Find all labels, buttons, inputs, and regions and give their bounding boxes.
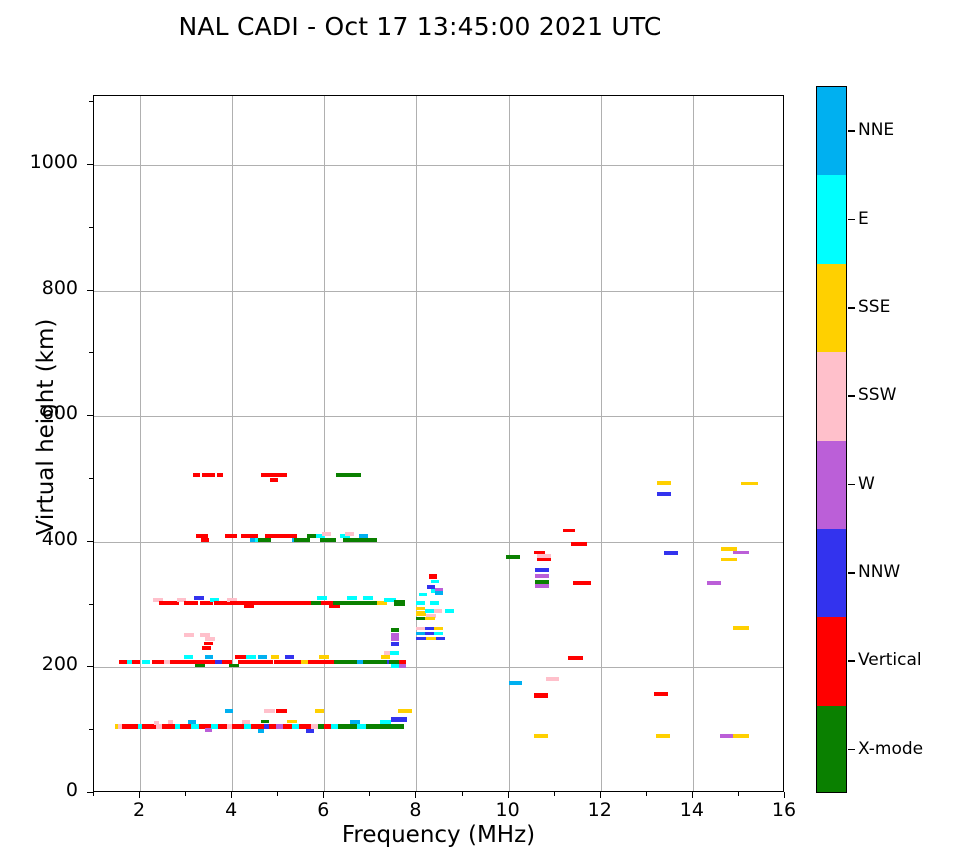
y-tick-label: 0 xyxy=(0,779,78,801)
echo-mark xyxy=(391,642,399,646)
echo-mark xyxy=(274,660,288,664)
echo-mark xyxy=(308,660,322,664)
x-tick xyxy=(554,792,555,796)
colorbar-tick xyxy=(848,749,855,751)
echo-mark xyxy=(445,609,454,613)
gridline-vertical xyxy=(509,96,510,791)
echo-mark xyxy=(264,709,274,713)
echo-mark xyxy=(329,605,341,609)
echo-mark xyxy=(287,660,302,664)
echo-mark xyxy=(534,693,548,698)
echo-mark xyxy=(391,633,399,637)
echo-mark xyxy=(416,627,424,631)
x-tick xyxy=(415,792,416,798)
echo-mark xyxy=(258,538,272,542)
echo-mark xyxy=(434,632,443,636)
x-tick xyxy=(323,792,324,798)
echo-mark xyxy=(333,601,352,605)
colorbar-tick xyxy=(848,572,855,574)
echo-mark xyxy=(509,681,523,685)
echo-mark xyxy=(193,473,200,477)
gridline-vertical xyxy=(601,96,602,791)
echo-mark xyxy=(434,609,442,613)
echo-mark xyxy=(132,660,140,664)
colorbar-tick xyxy=(848,484,855,486)
echo-mark xyxy=(435,591,443,595)
echo-mark xyxy=(229,664,239,668)
echo-mark xyxy=(419,593,427,597)
echo-mark xyxy=(425,609,434,613)
echo-mark xyxy=(347,596,356,600)
x-tick xyxy=(185,792,186,796)
gridline-horizontal xyxy=(94,291,783,292)
echo-mark xyxy=(244,605,255,609)
echo-mark xyxy=(573,581,591,585)
echo-mark xyxy=(535,568,549,572)
y-tick-label: 1000 xyxy=(0,151,78,173)
echo-mark xyxy=(205,637,214,641)
echo-mark xyxy=(721,558,736,562)
echo-mark xyxy=(119,660,127,664)
echo-mark xyxy=(426,637,436,641)
echo-mark xyxy=(205,728,211,732)
y-tick xyxy=(87,290,93,291)
colorbar-tick xyxy=(848,307,855,309)
colorbar-label-w: W xyxy=(858,474,875,494)
echo-mark xyxy=(225,534,237,538)
echo-mark xyxy=(733,551,749,555)
echo-mark xyxy=(361,538,377,542)
echo-mark xyxy=(535,584,549,588)
y-tick xyxy=(89,227,93,228)
x-tick-label: 16 xyxy=(754,799,814,821)
echo-mark xyxy=(733,734,749,738)
y-tick xyxy=(89,352,93,353)
echo-mark xyxy=(366,724,389,728)
plot-area xyxy=(93,95,784,792)
colorbar-label-ssw: SSW xyxy=(858,385,896,405)
y-tick xyxy=(89,101,93,102)
echo-mark xyxy=(258,729,265,733)
echo-mark xyxy=(248,660,260,664)
echo-mark xyxy=(204,642,213,646)
y-tick-label: 200 xyxy=(0,653,78,675)
echo-mark xyxy=(352,601,368,605)
x-tick xyxy=(231,792,232,798)
gridline-horizontal xyxy=(94,165,783,166)
echo-mark xyxy=(311,601,321,605)
gridline-vertical xyxy=(140,96,141,791)
echo-mark xyxy=(170,660,187,664)
echo-mark xyxy=(654,692,668,696)
echo-mark xyxy=(394,600,405,606)
echo-mark xyxy=(261,720,269,724)
x-tick xyxy=(646,792,647,796)
echo-mark xyxy=(664,551,678,555)
echo-mark xyxy=(168,720,174,724)
echo-mark xyxy=(184,601,198,605)
x-tick-label: 4 xyxy=(201,799,261,821)
echo-mark xyxy=(200,633,210,637)
echo-mark xyxy=(741,482,758,486)
colorbar-tick xyxy=(848,130,855,132)
echo-mark xyxy=(315,709,324,713)
echo-mark xyxy=(336,473,361,477)
echo-mark xyxy=(416,607,424,611)
colorbar-segment-sse[interactable] xyxy=(817,264,846,352)
y-tick xyxy=(87,541,93,542)
echo-mark xyxy=(363,596,372,600)
x-tick xyxy=(784,792,785,798)
x-tick-label: 2 xyxy=(109,799,169,821)
y-tick xyxy=(89,604,93,605)
colorbar-tick xyxy=(848,395,855,397)
colorbar-segment-x-mode[interactable] xyxy=(817,706,846,793)
echo-mark xyxy=(191,724,199,728)
echo-mark xyxy=(568,656,583,660)
colorbar-tick xyxy=(848,660,855,662)
colorbar[interactable] xyxy=(816,86,847,793)
echo-mark xyxy=(436,637,445,641)
echo-mark xyxy=(571,542,587,546)
gridline-horizontal xyxy=(94,667,783,668)
echo-mark xyxy=(261,660,273,664)
echo-mark xyxy=(338,724,356,728)
gridline-horizontal xyxy=(94,542,783,543)
colorbar-segment-vertical[interactable] xyxy=(817,617,846,705)
echo-mark xyxy=(398,709,412,713)
y-tick xyxy=(87,666,93,667)
y-tick xyxy=(89,729,93,730)
echo-mark xyxy=(201,538,209,542)
colorbar-label-sse: SSE xyxy=(858,297,890,317)
echo-mark xyxy=(656,734,670,738)
page-title: NAL CADI - Oct 17 13:45:00 2021 UTC xyxy=(0,12,840,41)
x-tick xyxy=(692,792,693,798)
echo-mark xyxy=(720,734,735,738)
echo-mark xyxy=(217,473,223,477)
x-tick-label: 10 xyxy=(478,799,538,821)
echo-mark xyxy=(345,532,354,536)
echo-mark xyxy=(306,729,314,733)
echo-mark xyxy=(294,538,310,542)
echo-mark xyxy=(363,660,386,664)
gridline-vertical xyxy=(324,96,325,791)
y-tick xyxy=(87,415,93,416)
y-axis-label: Virtual height (km) xyxy=(33,227,59,627)
echo-mark xyxy=(546,677,559,681)
echo-mark xyxy=(184,633,195,637)
echo-mark xyxy=(535,574,549,578)
x-tick xyxy=(277,792,278,796)
x-tick-label: 6 xyxy=(293,799,353,821)
echo-mark xyxy=(391,637,399,641)
echo-mark xyxy=(657,492,671,496)
echo-mark xyxy=(425,617,435,621)
echo-mark xyxy=(707,581,722,585)
gridline-horizontal xyxy=(94,416,783,417)
x-tick xyxy=(462,792,463,796)
echo-mark xyxy=(390,651,399,655)
echo-mark xyxy=(194,596,203,600)
colorbar-label-nne: NNE xyxy=(858,120,894,140)
echo-mark xyxy=(162,724,174,728)
colorbar-segment-w[interactable] xyxy=(817,441,846,529)
echo-mark xyxy=(563,529,575,533)
echo-mark xyxy=(506,555,520,559)
echo-mark xyxy=(387,724,404,728)
x-tick-label: 8 xyxy=(385,799,445,821)
colorbar-label-x-mode: X-mode xyxy=(858,739,923,759)
echo-mark xyxy=(195,664,204,668)
colorbar-label-e: E xyxy=(858,209,869,229)
echo-mark xyxy=(429,574,437,579)
x-axis-label: Frequency (MHz) xyxy=(93,822,784,848)
echo-mark xyxy=(534,734,548,738)
echo-mark xyxy=(317,596,326,600)
y-tick xyxy=(87,792,93,793)
colorbar-segment-e[interactable] xyxy=(817,175,846,263)
echo-mark xyxy=(322,532,331,536)
echo-mark xyxy=(399,664,406,668)
echo-mark xyxy=(430,601,438,605)
echo-mark xyxy=(287,720,296,724)
echo-mark xyxy=(225,709,233,713)
x-tick xyxy=(93,792,94,796)
echo-mark xyxy=(434,627,443,631)
y-tick xyxy=(89,478,93,479)
echo-mark xyxy=(416,601,424,605)
echo-mark xyxy=(202,646,211,650)
colorbar-segment-nnw[interactable] xyxy=(817,529,846,617)
echo-mark xyxy=(657,481,671,485)
colorbar-label-vertical: Vertical xyxy=(858,650,922,670)
echo-mark xyxy=(142,724,156,728)
echo-mark xyxy=(142,660,150,664)
echo-mark xyxy=(537,558,551,562)
echo-mark xyxy=(391,628,399,632)
echo-mark xyxy=(202,473,214,477)
x-tick-label: 14 xyxy=(662,799,722,821)
colorbar-label-nnw: NNW xyxy=(858,562,900,582)
echo-mark xyxy=(416,637,425,641)
colorbar-segment-nne[interactable] xyxy=(817,87,846,175)
x-tick xyxy=(369,792,370,796)
colorbar-tick xyxy=(848,219,855,221)
colorbar-segment-ssw[interactable] xyxy=(817,352,846,440)
echo-mark xyxy=(261,473,287,477)
echo-mark xyxy=(320,538,336,542)
gridline-vertical xyxy=(416,96,417,791)
echo-mark xyxy=(343,538,361,542)
gridline-vertical xyxy=(693,96,694,791)
echo-mark xyxy=(180,724,191,728)
gridline-vertical xyxy=(232,96,233,791)
echo-mark xyxy=(276,709,288,713)
x-tick xyxy=(508,792,509,798)
echo-mark xyxy=(232,724,245,728)
x-tick xyxy=(139,792,140,798)
y-tick xyxy=(87,164,93,165)
echo-mark xyxy=(122,724,138,728)
echo-mark xyxy=(733,626,749,630)
echo-mark xyxy=(391,664,399,668)
echo-mark xyxy=(238,660,249,664)
echo-mark xyxy=(270,478,278,482)
x-tick xyxy=(600,792,601,798)
echo-mark xyxy=(416,617,424,621)
x-tick-label: 12 xyxy=(570,799,630,821)
echo-mark xyxy=(391,717,407,721)
x-tick xyxy=(738,792,739,796)
echo-mark xyxy=(431,580,438,584)
